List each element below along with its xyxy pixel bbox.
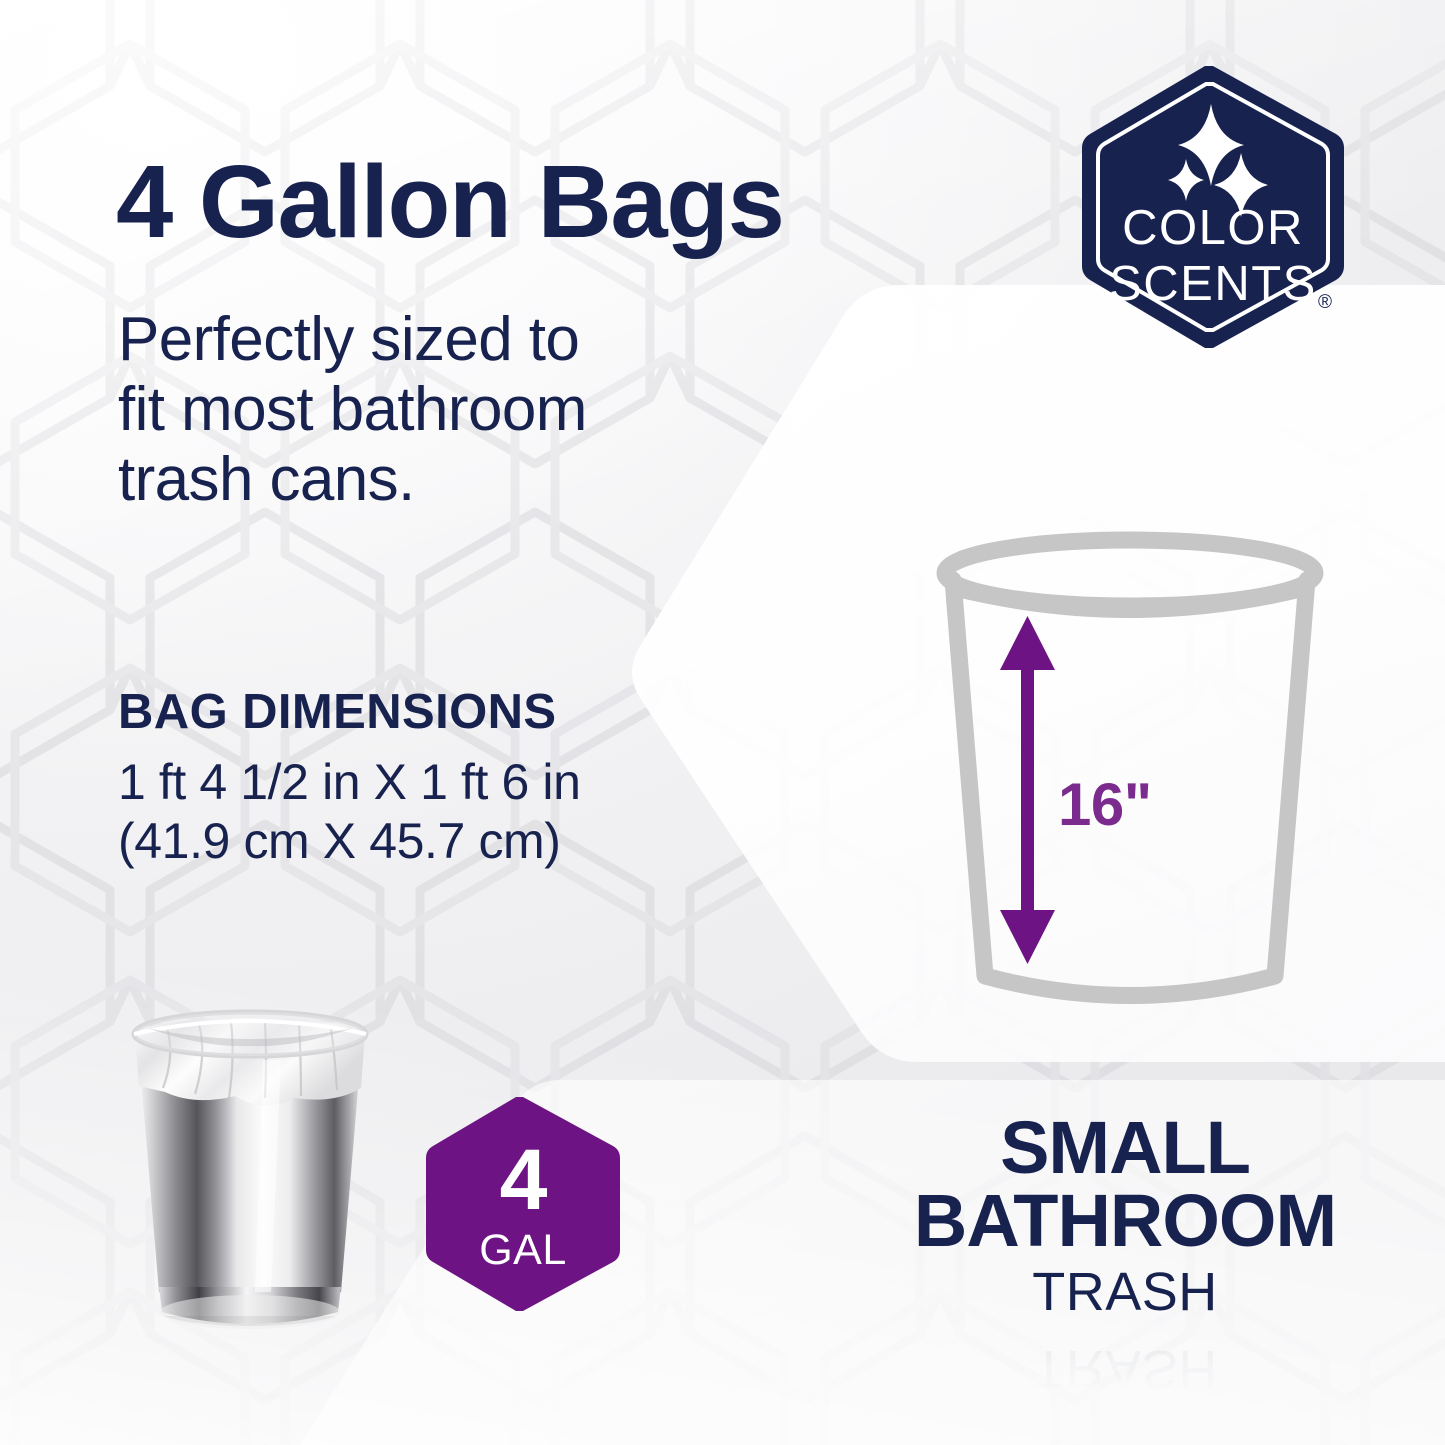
height-arrow-icon: [1000, 616, 1055, 964]
product-infographic: 4 Gallon Bags Perfectly sized to fit mos…: [0, 0, 1445, 1445]
subheadline-line-1: Perfectly sized to: [118, 305, 718, 375]
subheadline-line-3: trash cans.: [118, 445, 718, 515]
logo-text-color: COLOR: [1122, 201, 1304, 255]
metal-trash-can-reflection: [95, 1316, 405, 1445]
caption-reflection-text: TRASH: [865, 1338, 1385, 1400]
bag-dimensions-metric: (41.9 cm X 45.7 cm): [118, 812, 581, 871]
metal-trash-can-photo: [95, 1000, 405, 1330]
caption-line-2: BATHROOM: [865, 1185, 1385, 1258]
color-scents-logo: COLOR SCENTS: [1068, 62, 1358, 352]
caption-line-3: TRASH: [865, 1261, 1385, 1323]
subheadline: Perfectly sized to fit most bathroom tra…: [118, 305, 718, 515]
bag-dimensions-values: 1 ft 4 1/2 in X 1 ft 6 in (41.9 cm X 45.…: [118, 753, 581, 871]
can-height-label: 16": [1058, 770, 1152, 839]
capacity-badge-hexagon: [424, 1094, 622, 1314]
registered-trademark-mark: ®: [1318, 292, 1332, 314]
category-caption: SMALL BATHROOM TRASH: [865, 1112, 1385, 1323]
category-caption-reflection: TRASH: [865, 1338, 1385, 1404]
logo-text-scents: SCENTS: [1109, 257, 1317, 311]
subheadline-line-2: fit most bathroom: [118, 375, 718, 445]
page-title: 4 Gallon Bags: [116, 150, 783, 253]
bag-dimensions-imperial: 1 ft 4 1/2 in X 1 ft 6 in: [118, 753, 581, 812]
bag-dimensions-title: BAG DIMENSIONS: [118, 684, 556, 740]
caption-line-1: SMALL: [865, 1112, 1385, 1185]
